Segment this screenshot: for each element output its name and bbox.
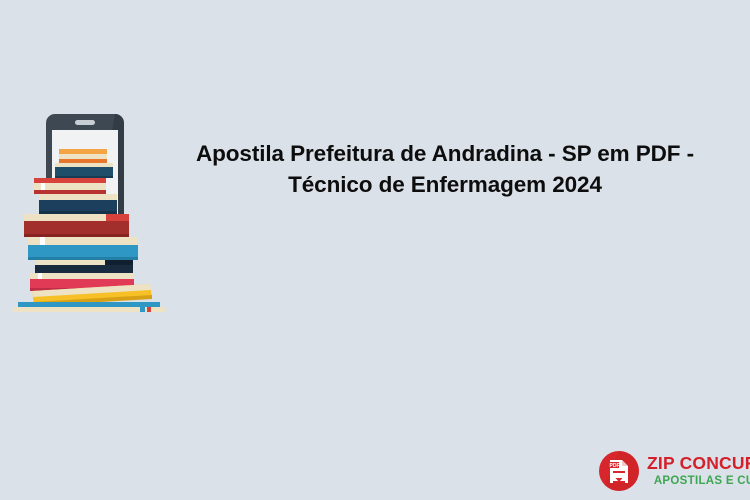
brand-name: ZIP CONCURSOS xyxy=(647,455,750,473)
book-top-orange xyxy=(59,149,107,163)
brand-text: ZIP CONCURSOS APOSTILAS E CURSOS xyxy=(647,455,750,487)
brand-logo[interactable]: PDF ZIP CONCURSOS APOSTILAS E CURSOS xyxy=(598,450,750,492)
book-navy-2 xyxy=(39,194,117,214)
book-navy-3 xyxy=(35,260,133,273)
book-stack-tablet-illustration xyxy=(10,112,170,312)
book-navy-1 xyxy=(55,163,113,178)
book-bottom-teal xyxy=(13,302,165,312)
book-teal-1 xyxy=(28,237,138,260)
svg-text:PDF: PDF xyxy=(610,463,620,469)
product-banner: Apostila Prefeitura de Andradina - SP em… xyxy=(0,0,750,500)
product-title-line-1: Apostila Prefeitura de Andradina - SP em… xyxy=(175,138,715,169)
book-red-1 xyxy=(34,178,106,194)
brand-tagline: APOSTILAS E CURSOS xyxy=(647,476,750,488)
book-stack xyxy=(13,149,165,312)
pdf-download-icon: PDF xyxy=(598,450,640,492)
book-darkred xyxy=(24,214,129,237)
product-title: Apostila Prefeitura de Andradina - SP em… xyxy=(175,138,715,200)
product-title-line-2: Técnico de Enfermagem 2024 xyxy=(175,169,715,200)
